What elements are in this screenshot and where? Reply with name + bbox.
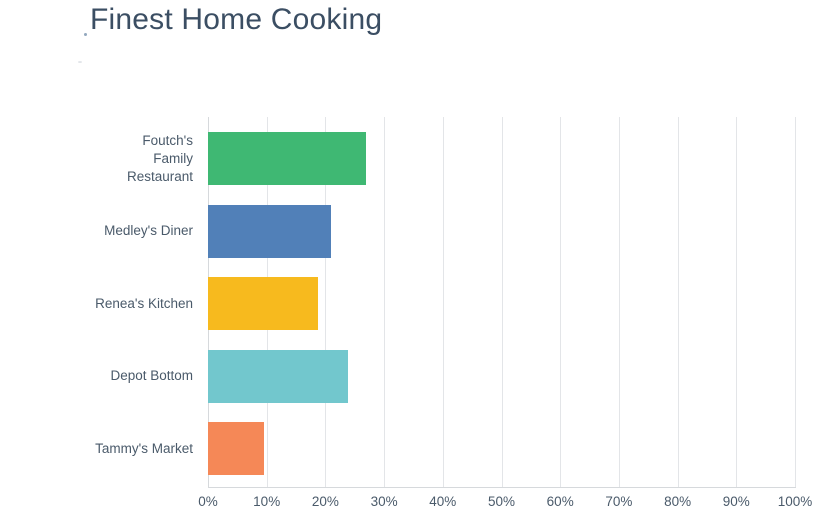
gridline-100pct [795,117,796,487]
x-tick-label: 90% [723,494,750,509]
x-tick-label: 50% [488,494,515,509]
x-tick-label: 20% [312,494,339,509]
bar[interactable] [208,350,348,403]
x-axis-line [208,487,796,488]
gridline-50pct [502,117,503,487]
gridline-30pct [384,117,385,487]
y-axis-label: Renea's Kitchen [33,295,193,313]
y-axis-label: Medley's Diner [33,222,193,240]
x-tick-label: 80% [664,494,691,509]
x-tick-label: 0% [198,494,218,509]
y-axis-label: Foutch's Family Restaurant [33,132,193,186]
subtitle-artifact-mark [78,61,82,63]
gridline-80pct [678,117,679,487]
x-tick-label: 40% [429,494,456,509]
gridline-60pct [560,117,561,487]
bar[interactable] [208,132,366,185]
x-tick-label: 60% [547,494,574,509]
x-tick-label: 30% [371,494,398,509]
x-tick-label: 100% [778,494,813,509]
gridline-90pct [736,117,737,487]
y-axis-label: Depot Bottom [33,367,193,385]
bar[interactable] [208,422,264,475]
x-tick-label: 70% [605,494,632,509]
plot-area [208,117,795,487]
bar[interactable] [208,277,318,330]
x-tick-label: 10% [253,494,280,509]
bar[interactable] [208,205,331,258]
y-axis-labels: Foutch's Family RestaurantMedley's Diner… [28,117,193,487]
gridline-40pct [443,117,444,487]
title-artifact-mark [84,33,87,36]
chart-title: Finest Home Cooking [90,3,382,37]
bar-chart: Finest Home Cooking Foutch's Family Rest… [0,0,817,517]
x-axis-labels: 0%10%20%30%40%50%60%70%80%90%100% [208,494,795,516]
y-axis-label: Tammy's Market [33,440,193,458]
gridline-70pct [619,117,620,487]
